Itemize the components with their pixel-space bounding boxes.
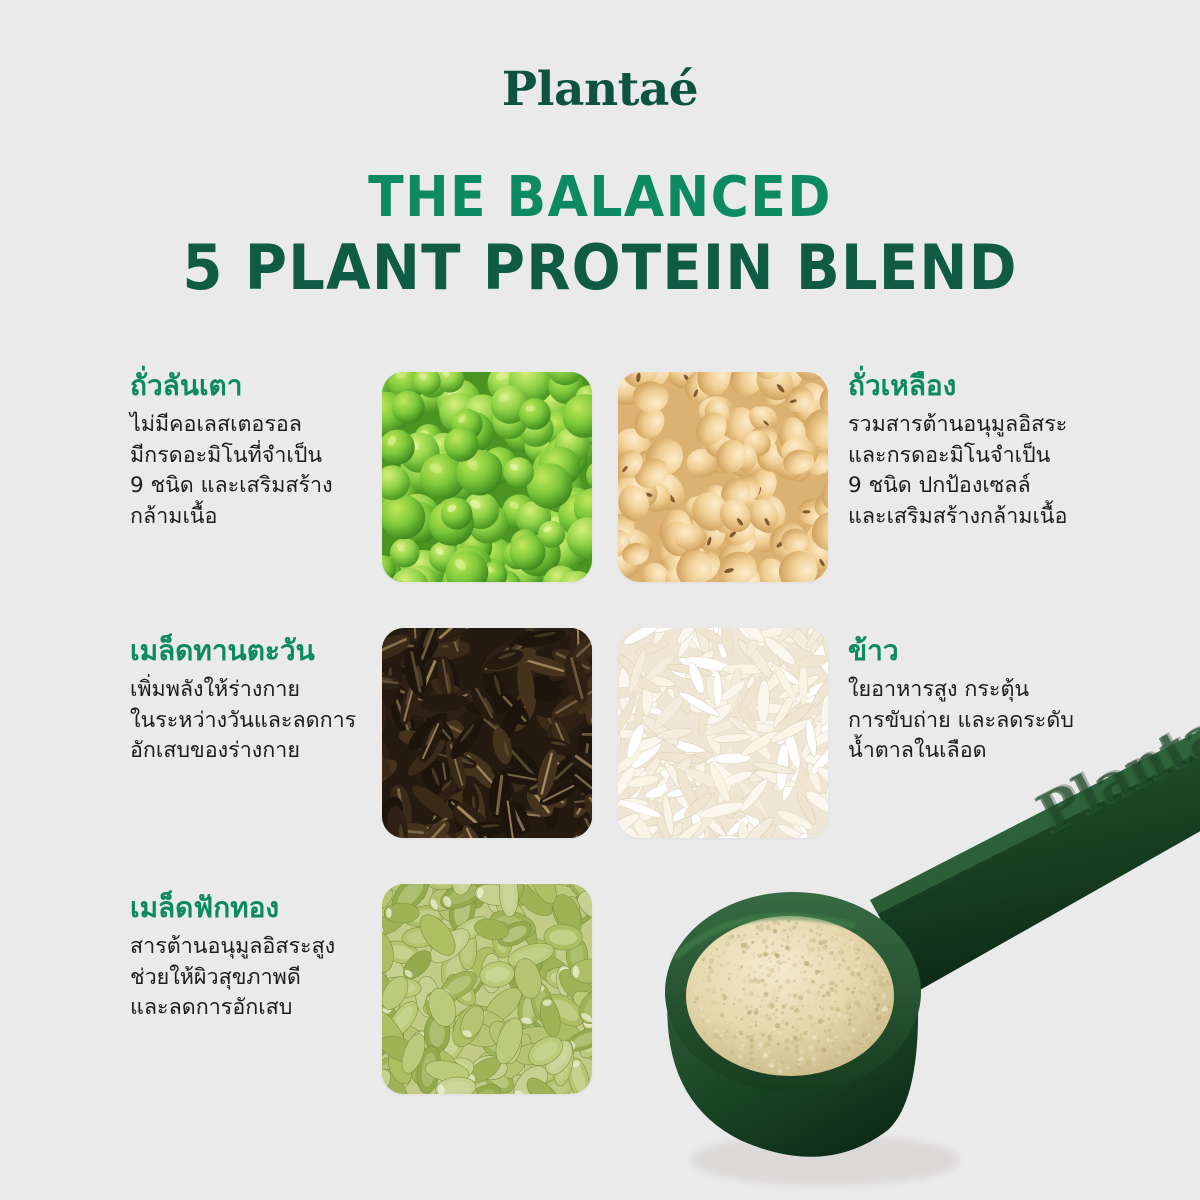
ingredient-title-pea: ถั่วลันเตา bbox=[130, 368, 378, 403]
ingredient-title-rice: ข้าว bbox=[848, 633, 1096, 668]
pumpkin-seeds-photo bbox=[382, 884, 592, 1094]
ingredient-desc-soy: รวมสารต้านอนุมูลอิสระ และกรดอะมิโนจำเป็น… bbox=[848, 410, 1096, 532]
desc-line: และเสริมสร้างกล้ามเนื้อ bbox=[848, 502, 1096, 533]
green-peas-photo bbox=[382, 372, 592, 582]
measuring-scoop: Plantaé Plantaé bbox=[620, 700, 1200, 1200]
ingredient-text-soy: ถั่วเหลือง รวมสารต้านอนุมูลอิสระ และกรดอ… bbox=[848, 368, 1096, 532]
page-title: THE BALANCED 5 PLANT PROTEIN BLEND bbox=[0, 168, 1200, 303]
desc-line: ไม่มีคอเลสเตอรอล bbox=[130, 410, 378, 441]
ingredient-desc-sunflower: เพิ่มพลังให้ร่างกาย ในระหว่างวันและลดการ… bbox=[130, 675, 378, 767]
ingredient-text-sunflower: เมล็ดทานตะวัน เพิ่มพลังให้ร่างกาย ในระหว… bbox=[130, 633, 378, 767]
ingredient-desc-pea: ไม่มีคอเลสเตอรอล มีกรดอะมิโนที่จำเป็น 9 … bbox=[130, 410, 378, 532]
desc-line: สารต้านอนุมูลอิสระสูง bbox=[130, 932, 378, 963]
ingredient-text-pumpkin: เมล็ดฟักทอง สารต้านอนุมูลอิสระสูง ช่วยให… bbox=[130, 890, 378, 1024]
headline-line-2: 5 PLANT PROTEIN BLEND bbox=[42, 233, 1158, 302]
headline-line-1: THE BALANCED bbox=[42, 168, 1158, 227]
desc-line: ช่วยให้ผิวสุขภาพดี bbox=[130, 963, 378, 994]
sunflower-seeds-photo bbox=[382, 628, 592, 838]
desc-line: 9 ชนิด ปกป้องเซลล์ bbox=[848, 471, 1096, 502]
desc-line: กล้ามเนื้อ bbox=[130, 502, 378, 533]
infographic-page: Plantaé THE BALANCED 5 PLANT PROTEIN BLE… bbox=[0, 0, 1200, 1200]
desc-line: และลดการอักเสบ bbox=[130, 993, 378, 1024]
desc-line: 9 ชนิด และเสริมสร้าง bbox=[130, 471, 378, 502]
ingredient-title-sunflower: เมล็ดทานตะวัน bbox=[130, 633, 378, 668]
ingredient-text-pea: ถั่วลันเตา ไม่มีคอเลสเตอรอล มีกรดอะมิโนท… bbox=[130, 368, 378, 532]
brand-logo-text: Plantaé bbox=[502, 62, 698, 117]
ingredient-title-soy: ถั่วเหลือง bbox=[848, 368, 1096, 403]
desc-line: รวมสารต้านอนุมูลอิสระ bbox=[848, 410, 1096, 441]
ingredient-title-pumpkin: เมล็ดฟักทอง bbox=[130, 890, 378, 925]
brand-logo: Plantaé bbox=[0, 62, 1200, 117]
desc-line: เพิ่มพลังให้ร่างกาย bbox=[130, 675, 378, 706]
desc-line: ในระหว่างวันและลดการ bbox=[130, 706, 378, 737]
desc-line: อักเสบของร่างกาย bbox=[130, 736, 378, 767]
soybeans-photo bbox=[618, 372, 828, 582]
ingredient-desc-pumpkin: สารต้านอนุมูลอิสระสูง ช่วยให้ผิวสุขภาพดี… bbox=[130, 932, 378, 1024]
desc-line: และกรดอะมิโนจำเป็น bbox=[848, 441, 1096, 472]
desc-line: มีกรดอะมิโนที่จำเป็น bbox=[130, 441, 378, 472]
